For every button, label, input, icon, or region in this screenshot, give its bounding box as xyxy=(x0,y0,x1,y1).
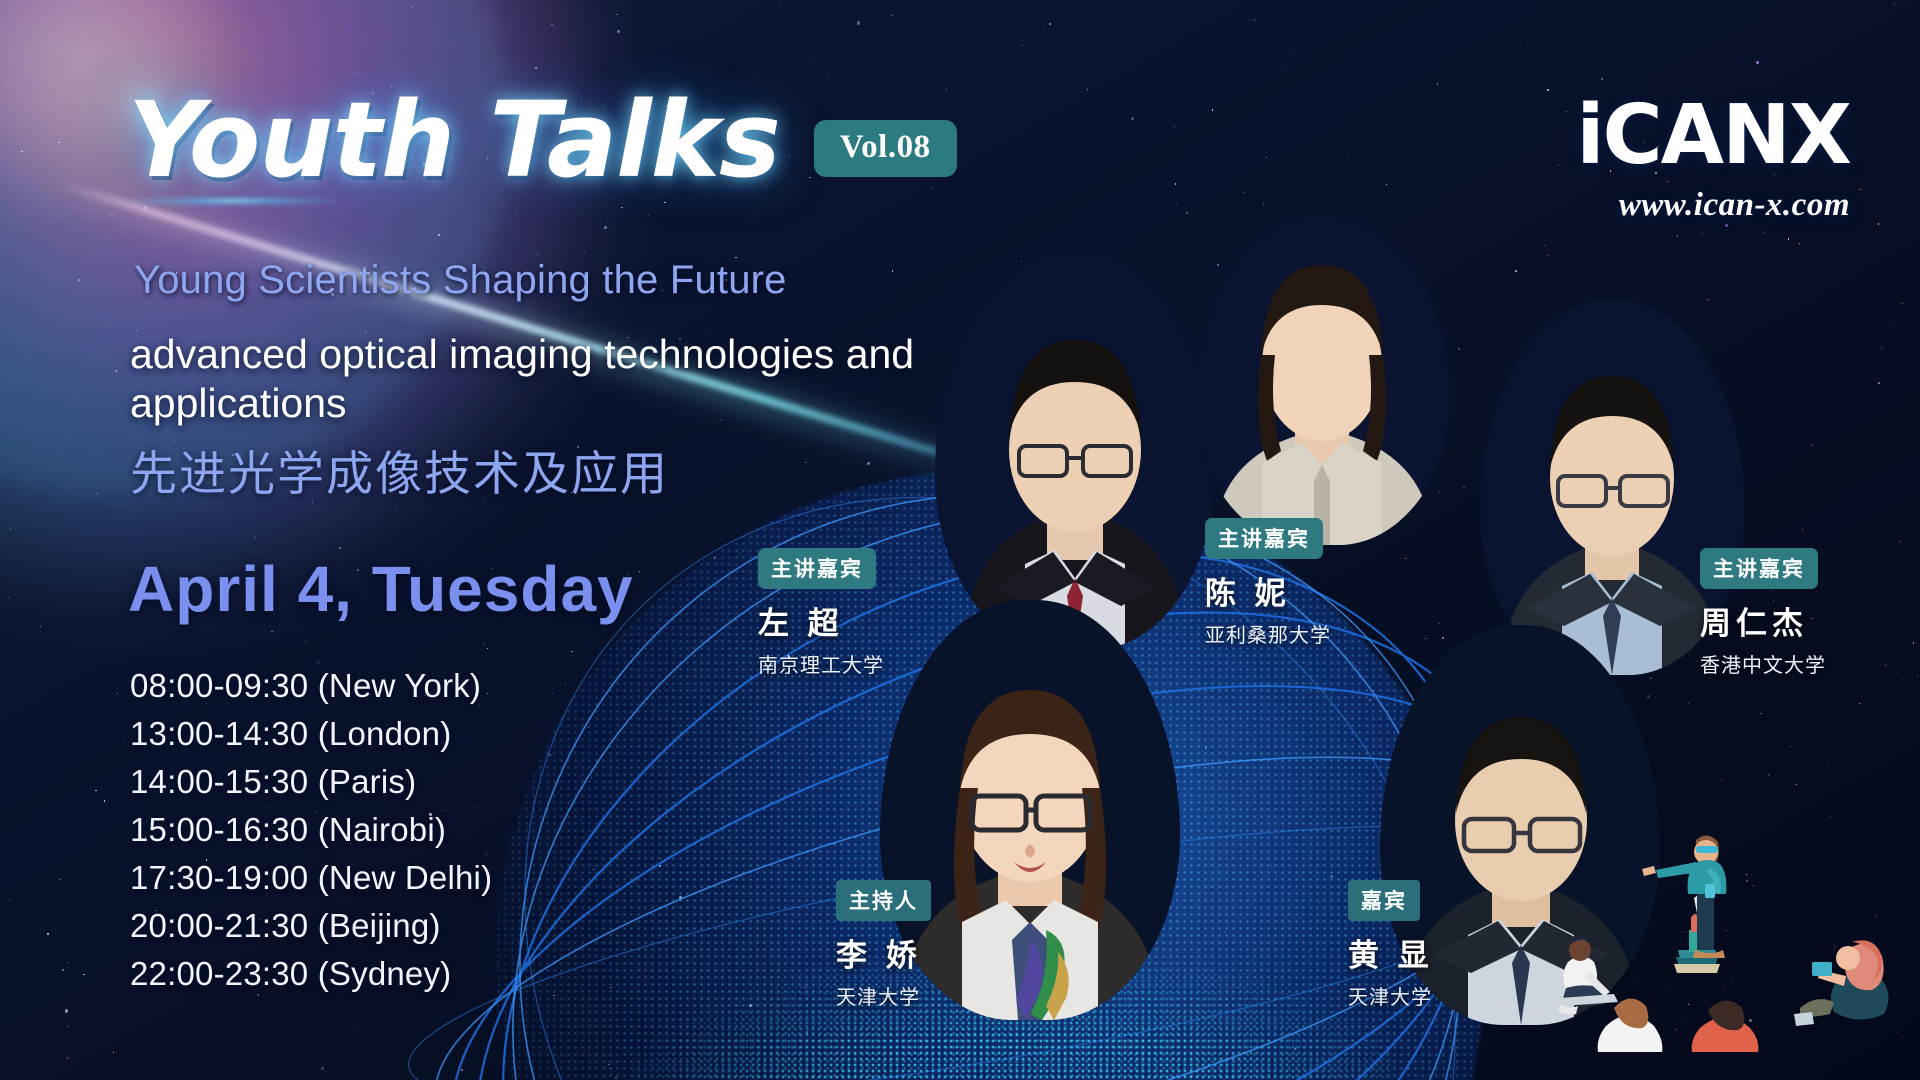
tagline: Young Scientists Shaping the Future xyxy=(134,258,787,303)
speaker-org: 南京理工大学 xyxy=(758,649,884,678)
content-column: Youth Talks Vol.08 Young Scientists Shap… xyxy=(0,0,960,1080)
speaker-name: 周仁杰 xyxy=(1700,598,1826,643)
nameplate-speaker-3: 主讲嘉宾 周仁杰 香港中文大学 xyxy=(1700,548,1826,678)
brand-logo[interactable]: iCANX www.ican-x.com xyxy=(1576,95,1850,224)
host-org: 天津大学 xyxy=(836,981,931,1010)
role-badge: 主讲嘉宾 xyxy=(1205,518,1323,559)
nameplate-host: 主持人 李 娇 天津大学 xyxy=(836,880,931,1010)
role-badge: 主讲嘉宾 xyxy=(1700,548,1818,589)
role-badge: 嘉宾 xyxy=(1348,880,1420,921)
avatar-speaker-1 xyxy=(935,250,1215,650)
role-badge: 主持人 xyxy=(836,880,931,921)
icanx-logo-icon: iCANX xyxy=(1576,95,1850,177)
speaker-org: 亚利桑那大学 xyxy=(1205,619,1331,648)
audience-illustration xyxy=(1550,802,1910,1052)
volume-badge: Vol.08 xyxy=(814,120,957,177)
timezone-item: 22:00-23:30 (Sydney) xyxy=(130,950,492,998)
guest-org: 天津大学 xyxy=(1348,981,1434,1010)
seated-person-left xyxy=(1558,937,1618,1014)
timezone-item: 17:30-19:00 (New Delhi) xyxy=(130,854,492,902)
presenter-figure xyxy=(1642,835,1726,973)
speaker-name: 左 超 xyxy=(758,598,884,643)
event-date: April 4, Tuesday xyxy=(128,552,634,626)
topic-title-en: advanced optical imaging technologies an… xyxy=(130,330,960,428)
speaker-name: 陈 妮 xyxy=(1205,568,1331,613)
topic-title-cn: 先进光学成像技术及应用 xyxy=(130,448,669,500)
timezone-item: 13:00-14:30 (London) xyxy=(130,710,492,758)
timezone-item: 20:00-21:30 (Beijing) xyxy=(130,902,492,950)
avatar-speaker-2 xyxy=(1195,215,1450,545)
page-title: Youth Talks xyxy=(128,88,780,192)
speaker-org: 香港中文大学 xyxy=(1700,649,1826,678)
seated-person-right xyxy=(1794,940,1889,1026)
seated-person-front-right xyxy=(1692,1000,1759,1052)
nameplate-speaker-1: 主讲嘉宾 左 超 南京理工大学 xyxy=(758,548,884,678)
poster-canvas: Youth Talks Vol.08 Young Scientists Shap… xyxy=(0,0,1920,1080)
timezone-list: 08:00-09:30 (New York)13:00-14:30 (Londo… xyxy=(130,662,492,998)
timezone-item: 15:00-16:30 (Nairobi) xyxy=(130,806,492,854)
timezone-item: 14:00-15:30 (Paris) xyxy=(130,758,492,806)
host-name: 李 娇 xyxy=(836,930,931,975)
title-lens-flare-icon xyxy=(118,196,348,206)
title-row: Youth Talks Vol.08 xyxy=(128,88,957,192)
guest-name: 黄 显 xyxy=(1348,930,1434,975)
nameplate-guest: 嘉宾 黄 显 天津大学 xyxy=(1348,880,1434,1010)
timezone-item: 08:00-09:30 (New York) xyxy=(130,662,492,710)
nameplate-speaker-2: 主讲嘉宾 陈 妮 亚利桑那大学 xyxy=(1205,518,1331,648)
role-badge: 主讲嘉宾 xyxy=(758,548,876,589)
seated-person-front-left xyxy=(1598,998,1663,1052)
website-url[interactable]: www.ican-x.com xyxy=(1576,187,1850,224)
